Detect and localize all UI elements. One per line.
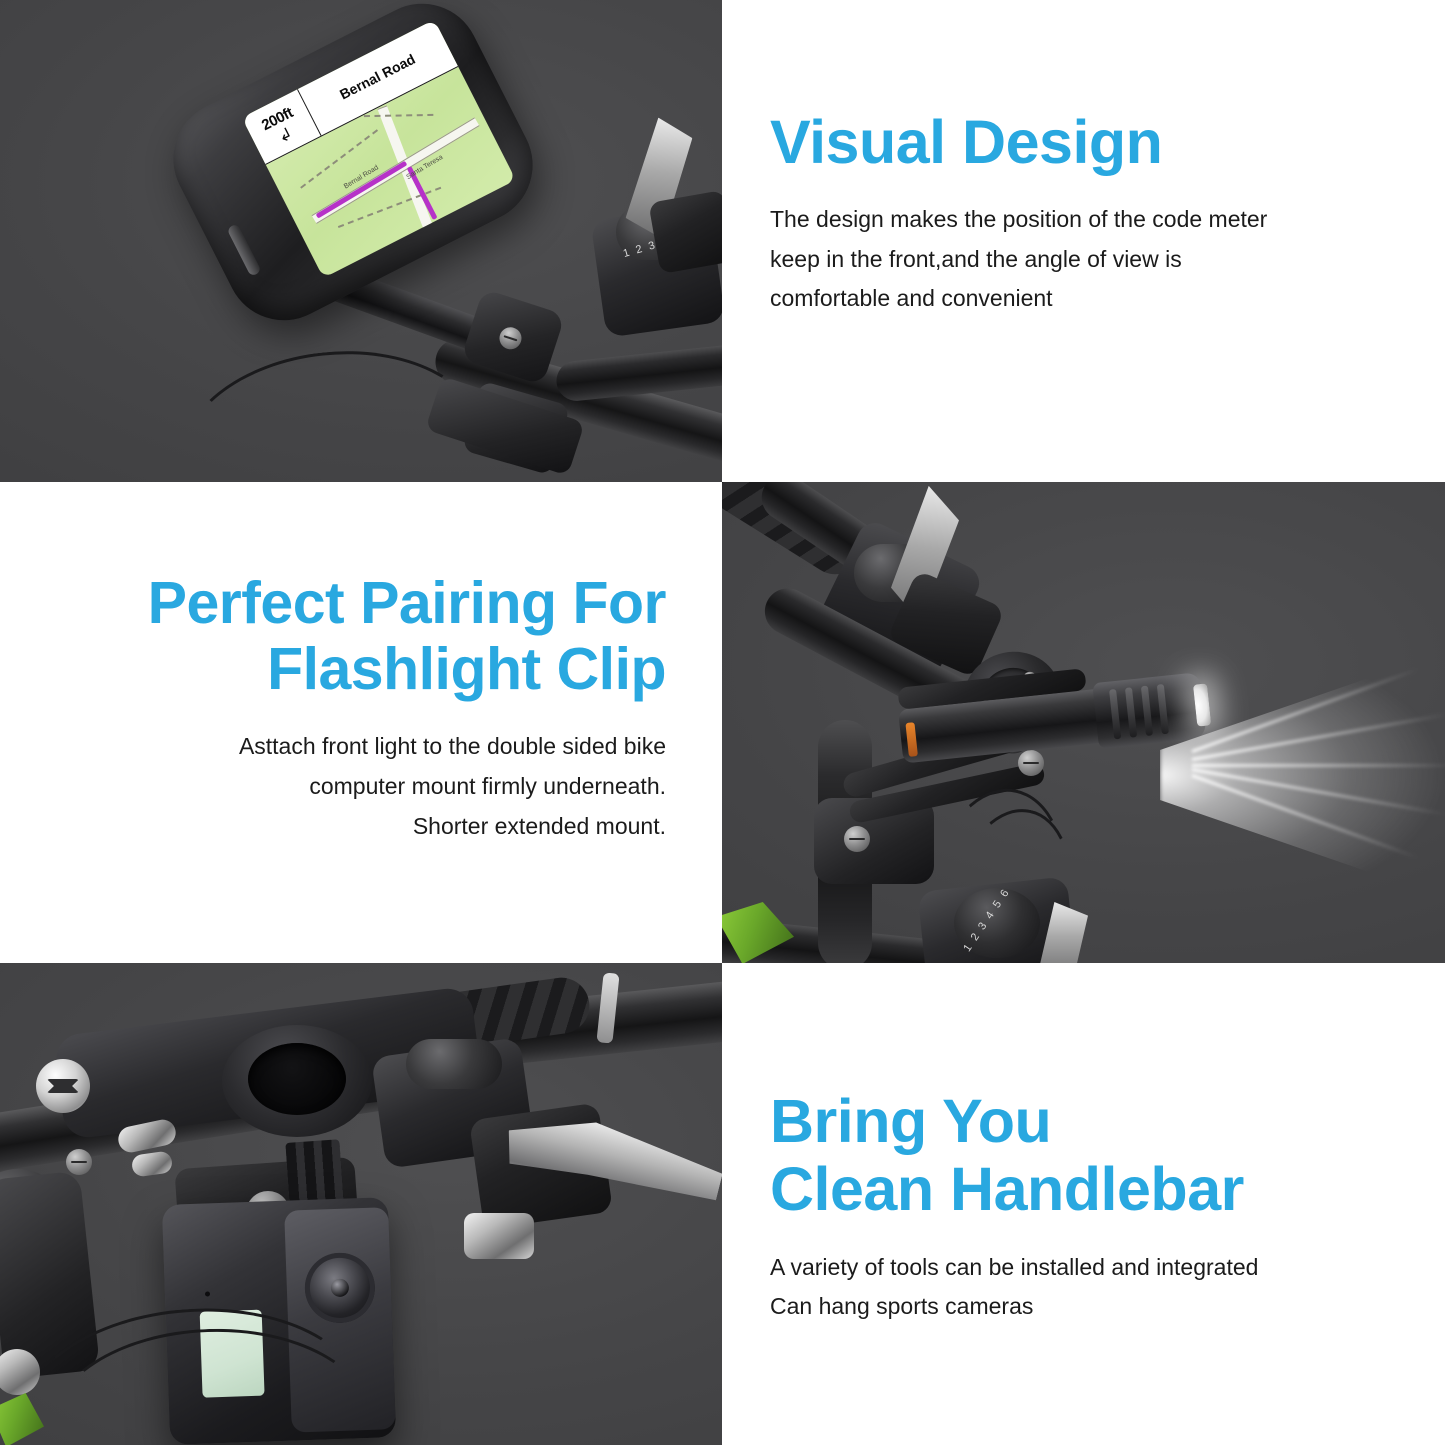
copy-block-flashlight: Perfect Pairing For Flashlight Clip Astt… bbox=[40, 570, 666, 846]
panel-handlebar-photo bbox=[0, 963, 722, 1445]
panel-visual-design-copy: Visual Design The design makes the posit… bbox=[722, 0, 1445, 482]
body-visual-design: The design makes the position of the cod… bbox=[770, 200, 1390, 319]
flashlight-knurl-4 bbox=[1157, 684, 1169, 734]
panel-flashlight-photo: 1 2 3 4 5 6 bbox=[722, 482, 1445, 963]
flashlight-indicator-band bbox=[905, 722, 918, 757]
camera-lens bbox=[304, 1252, 376, 1324]
camera-mic-dot bbox=[205, 1291, 210, 1296]
body-flashlight: Asttach front light to the double sided … bbox=[40, 726, 666, 846]
flashlight-head bbox=[1092, 672, 1206, 749]
infographic-sheet: 1 2 3 4 5 6 bbox=[0, 0, 1445, 1445]
clamp-screw bbox=[844, 826, 870, 852]
beam-ray-3 bbox=[1192, 764, 1445, 767]
thumb-screw[interactable] bbox=[36, 1059, 90, 1113]
headline-flashlight: Perfect Pairing For Flashlight Clip bbox=[40, 570, 666, 702]
panel-flashlight-copy: Perfect Pairing For Flashlight Clip Astt… bbox=[0, 482, 722, 963]
panel-handlebar-copy: Bring You Clean Handlebar A variety of t… bbox=[722, 963, 1445, 1445]
turn-left-arrow-icon: ↲ bbox=[275, 124, 295, 146]
flashlight-knurl-3 bbox=[1141, 686, 1153, 736]
copy-block-visual-design: Visual Design The design makes the posit… bbox=[770, 108, 1390, 319]
pivot-screw bbox=[497, 324, 525, 352]
flashlight-knurl-2 bbox=[1125, 687, 1137, 737]
mount-screw-side bbox=[66, 1149, 92, 1175]
quarter-turn-mount-ring bbox=[222, 1025, 372, 1137]
headline-visual-design: Visual Design bbox=[770, 108, 1390, 176]
mount-bore bbox=[248, 1043, 346, 1115]
body-handlebar: A variety of tools can be installed and … bbox=[770, 1248, 1390, 1327]
thumb-screw-wing bbox=[47, 1079, 79, 1093]
headline-handlebar: Bring You Clean Handlebar bbox=[770, 1087, 1390, 1224]
shifter-dial bbox=[406, 1039, 502, 1089]
lever-pivot-chrome bbox=[464, 1213, 534, 1259]
panel-visual-design-photo: 1 2 3 4 5 6 bbox=[0, 0, 722, 482]
shifter-hood bbox=[648, 190, 722, 274]
copy-block-handlebar: Bring You Clean Handlebar A variety of t… bbox=[770, 1087, 1390, 1327]
flashlight-knurl-1 bbox=[1109, 689, 1121, 739]
